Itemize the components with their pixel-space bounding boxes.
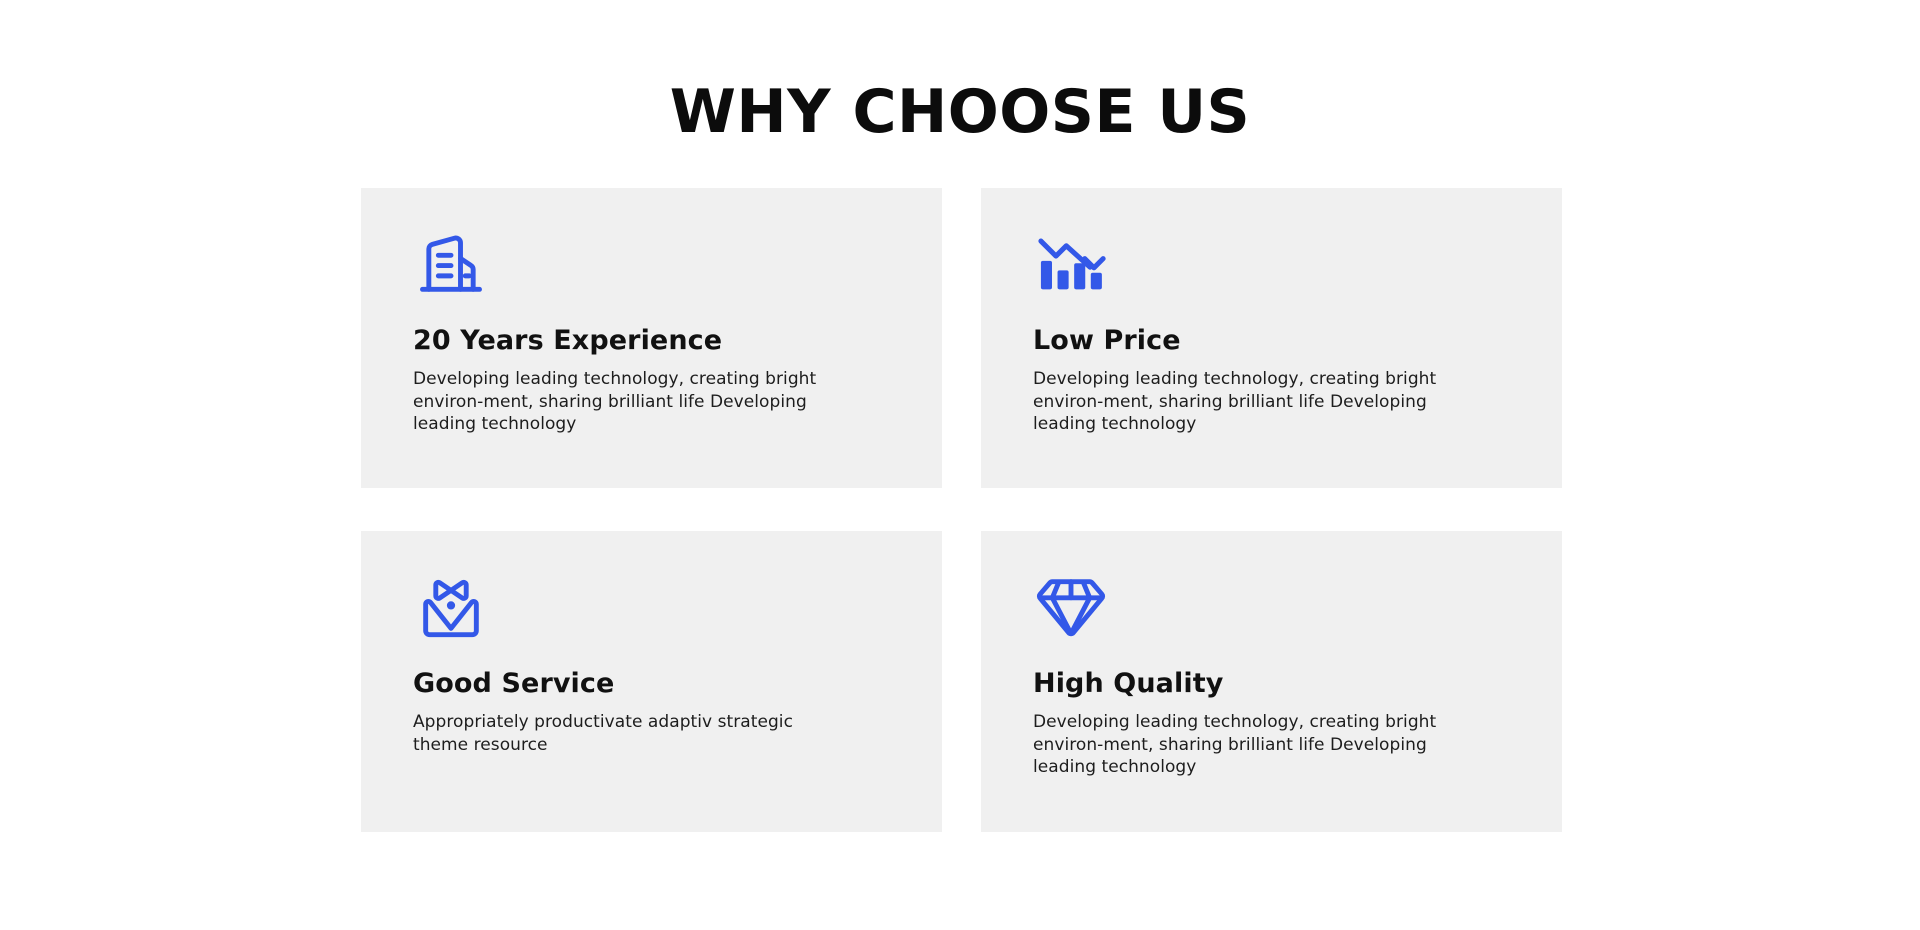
- why-choose-us-section: WHY CHOOSE US 20 Years Experience Develo…: [0, 0, 1920, 930]
- feature-card-description: Developing leading technology, creating …: [1033, 368, 1453, 436]
- diamond-icon: [1033, 569, 1109, 645]
- feature-card-title: Good Service: [413, 667, 890, 701]
- feature-card-20-years-experience[interactable]: 20 Years Experience Developing leading t…: [361, 188, 942, 488]
- feature-card-good-service[interactable]: Good Service Appropriately productivate …: [361, 531, 942, 832]
- feature-cards-grid: 20 Years Experience Developing leading t…: [361, 188, 1562, 832]
- feature-card-title: 20 Years Experience: [413, 324, 890, 358]
- feature-card-description: Appropriately productivate adaptiv strat…: [413, 711, 833, 756]
- declining-bar-chart-icon: [1033, 226, 1109, 302]
- feature-card-title: Low Price: [1033, 324, 1510, 358]
- tuxedo-bowtie-icon: [413, 569, 489, 645]
- feature-card-description: Developing leading technology, creating …: [1033, 711, 1453, 779]
- feature-card-title: High Quality: [1033, 667, 1510, 701]
- feature-card-description: Developing leading technology, creating …: [413, 368, 833, 436]
- office-building-icon: [413, 226, 489, 302]
- feature-card-high-quality[interactable]: High Quality Developing leading technolo…: [981, 531, 1562, 832]
- feature-card-low-price[interactable]: Low Price Developing leading technology,…: [981, 188, 1562, 488]
- page-title: WHY CHOOSE US: [0, 78, 1920, 146]
